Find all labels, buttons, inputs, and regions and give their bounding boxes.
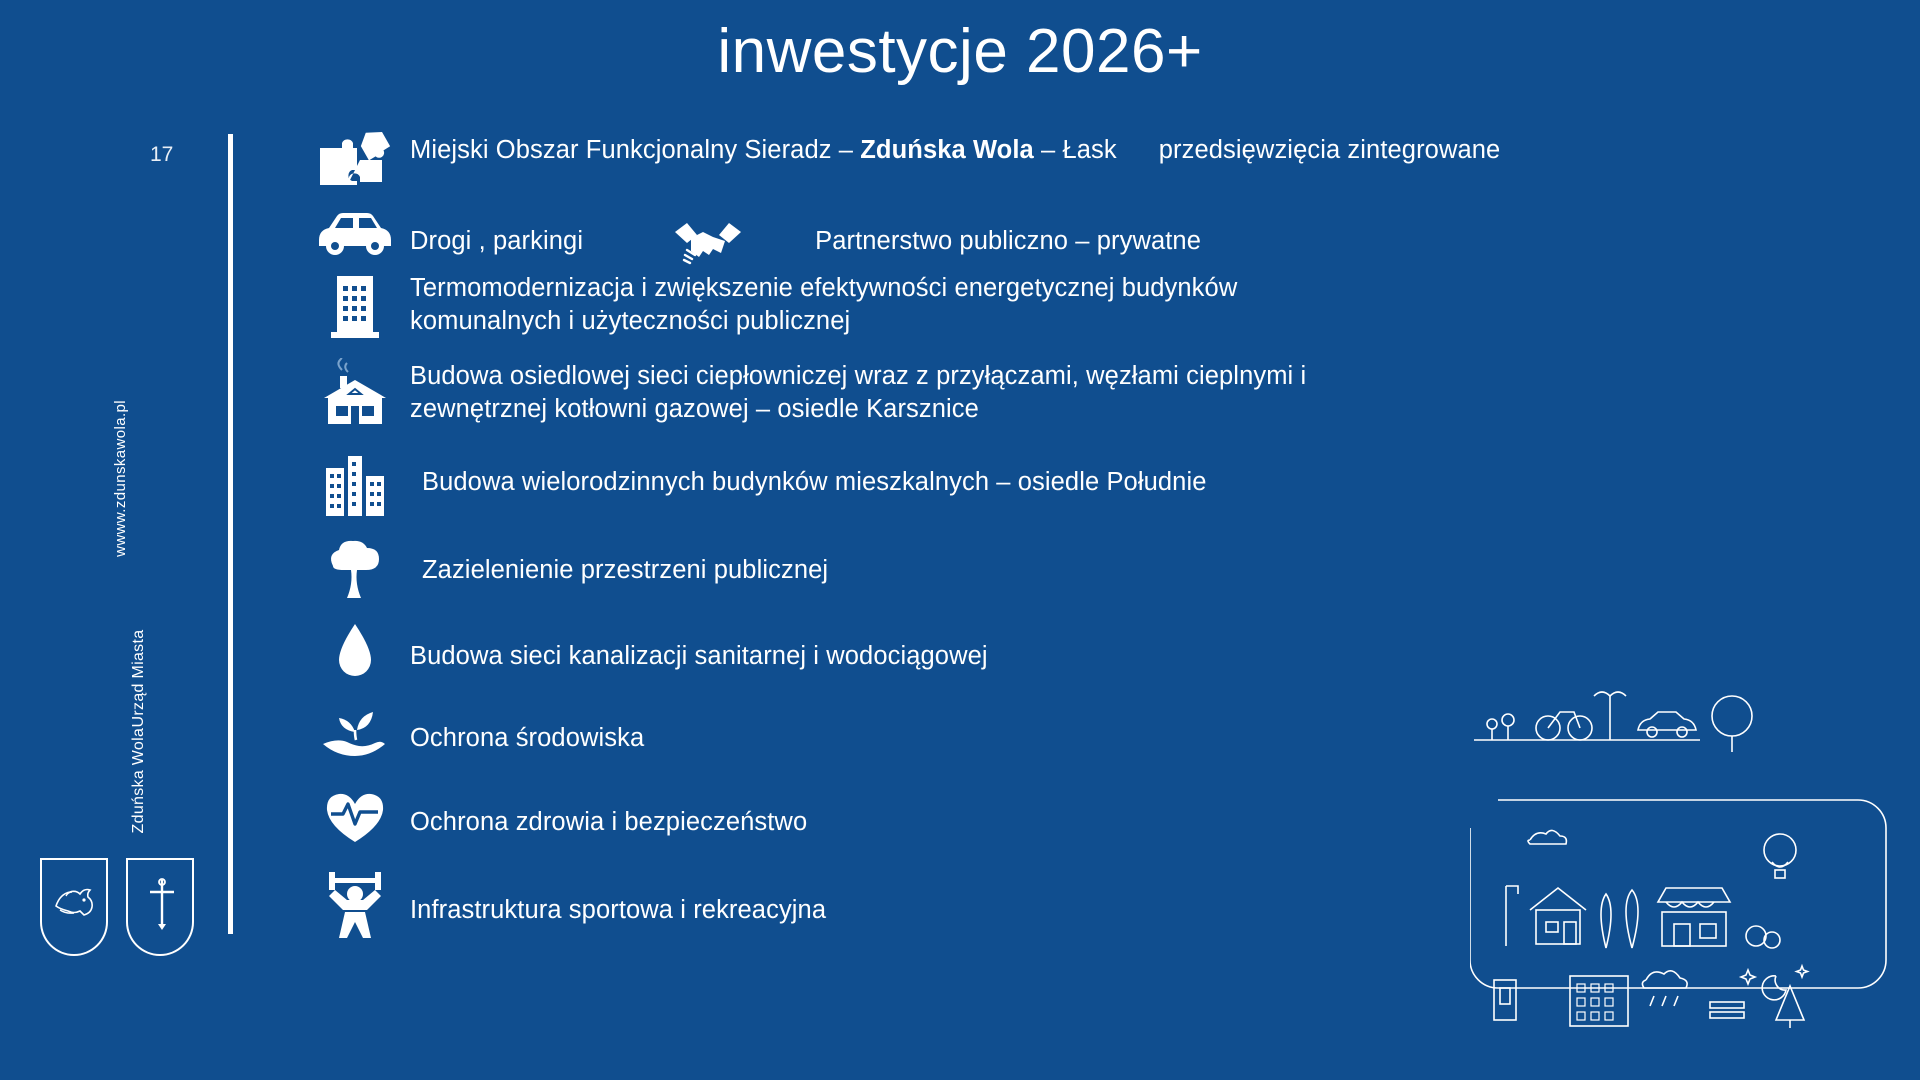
- row4-line-2: zewnętrznej kotłowni gazowej – osiedle K…: [410, 393, 1306, 426]
- row1-text-tail: przedsięwzięcia zintegrowane: [1159, 136, 1501, 164]
- coat-of-arms-group: [40, 860, 220, 970]
- list-item-text: Zazielenienie przestrzeni publicznej: [410, 534, 828, 587]
- row4-line-1: Budowa osiedlowej sieci ciepłowniczej wr…: [410, 360, 1306, 393]
- list-item-text: Budowa wielorodzinnych budynków mieszkal…: [410, 444, 1207, 499]
- row3-line-1: Termomodernizacja i zwiększenie efektywn…: [410, 272, 1237, 305]
- list-item-text: Budowa sieci kanalizacji sanitarnej i wo…: [410, 618, 988, 673]
- weightlifter-icon: [300, 866, 410, 942]
- city-scene-illustration: [1470, 680, 1890, 1040]
- website-url: wwww.zdunskawola.pl: [112, 400, 129, 557]
- page-number: 17: [150, 143, 173, 167]
- list-item[interactable]: Zazielenienie przestrzeni publicznej: [300, 534, 1860, 618]
- handshake-icon: [669, 216, 747, 266]
- list-item-text: Drogi , parkingi Partnerstwo publiczno –…: [410, 200, 1201, 266]
- list-item[interactable]: Termomodernizacja i zwiększenie efektywn…: [300, 268, 1860, 356]
- list-item-text: Infrastruktura sportowa i rekreacyjna: [410, 866, 826, 927]
- water-drop-icon: [300, 618, 410, 688]
- row1-text-pre: Miejski Obszar Funkcjonalny Sieradz –: [410, 136, 860, 164]
- organization-line-1: Zduńska Wola: [128, 728, 150, 834]
- coat-of-arms-lion-shield: [40, 860, 108, 956]
- list-item-text: Miejski Obszar Funkcjonalny Sieradz – Zd…: [410, 128, 1500, 167]
- row2-text: Drogi , parkingi: [410, 225, 583, 258]
- heart-pulse-icon: [300, 786, 410, 848]
- row1-text-bold: Zduńska Wola: [860, 136, 1034, 164]
- lion-icon: [50, 876, 102, 928]
- organization-line-2: Urząd Miasta: [128, 630, 150, 728]
- coat-of-arms-sword-shield: [126, 860, 194, 956]
- car-icon: [300, 200, 410, 258]
- city-buildings-icon: [300, 444, 410, 520]
- hand-plant-icon: [300, 702, 410, 764]
- house-chimney-icon: [300, 356, 410, 436]
- row2-text-2: Partnerstwo publiczno – prywatne: [815, 225, 1201, 258]
- row1-text-post: – Łask: [1034, 136, 1117, 164]
- list-item[interactable]: Budowa wielorodzinnych budynków mieszkal…: [300, 444, 1860, 534]
- list-item-text: Ochrona środowiska: [410, 702, 644, 755]
- puzzle-icon: [300, 128, 410, 196]
- page-title: inwestycje 2026+: [0, 18, 1920, 86]
- list-item[interactable]: Budowa osiedlowej sieci ciepłowniczej wr…: [300, 356, 1860, 444]
- sword-icon: [136, 876, 188, 932]
- list-item-text: Ochrona zdrowia i bezpieczeństwo: [410, 786, 807, 839]
- list-item-text: Budowa osiedlowej sieci ciepłowniczej wr…: [410, 356, 1306, 425]
- list-item[interactable]: Drogi , parkingi Partnerstwo publiczno –…: [300, 200, 1860, 268]
- organization-label: Zduńska Wola Urząd Miasta: [128, 630, 150, 833]
- tree-icon: [300, 534, 410, 604]
- vertical-divider: [228, 134, 233, 934]
- list-item-text: Termomodernizacja i zwiększenie efektywn…: [410, 268, 1237, 337]
- office-building-icon: [300, 268, 410, 342]
- row3-line-2: komunalnych i użyteczności publicznej: [410, 305, 1237, 338]
- list-item[interactable]: Miejski Obszar Funkcjonalny Sieradz – Zd…: [300, 128, 1860, 200]
- slide-canvas: inwestycje 2026+ 17 wwww.zdunskawola.pl …: [0, 0, 1920, 1080]
